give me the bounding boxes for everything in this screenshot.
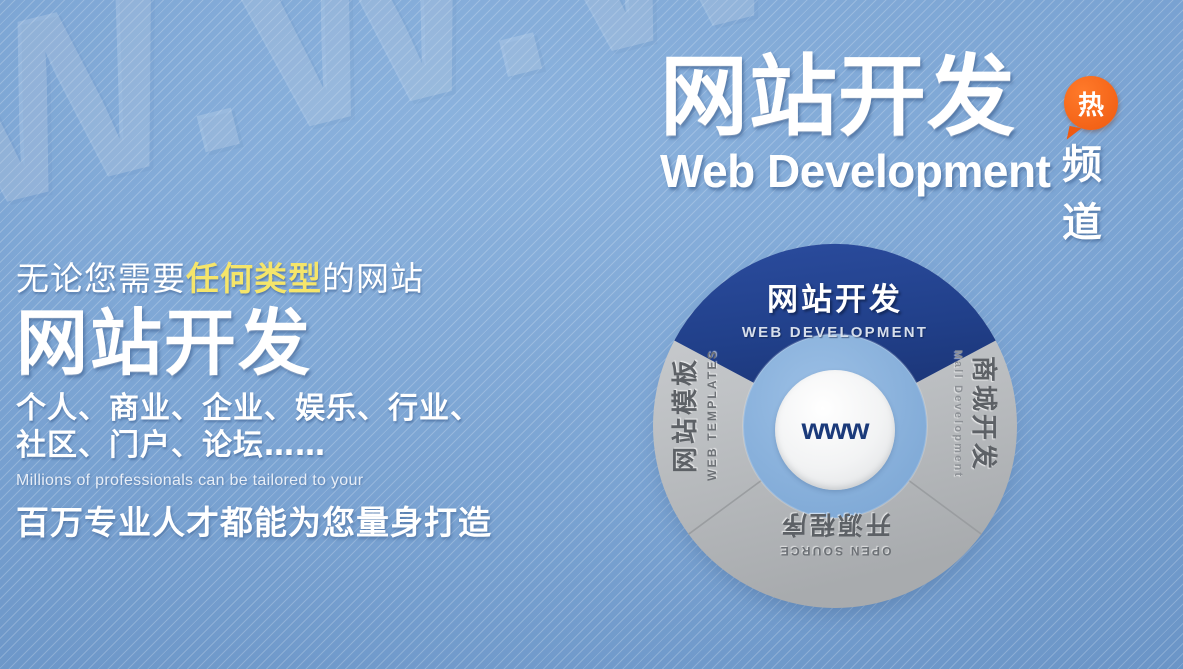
header-chinese-title: 网站开发 bbox=[660, 52, 1130, 142]
tagline: 百万专业人才都能为您量身打造 bbox=[16, 496, 556, 544]
category-line-1: 个人、商业、企业、娱乐、行业、 bbox=[16, 390, 556, 428]
english-subtitle: Millions of professionals can be tailore… bbox=[16, 472, 556, 490]
header-title-block: 网站开发 Web Development 热 频道 bbox=[660, 52, 1130, 198]
hot-badge: 热 bbox=[1064, 76, 1118, 130]
hot-badge-label: 热 bbox=[1078, 85, 1104, 122]
header-english-title: Web Development bbox=[660, 144, 1130, 198]
center-www-hub[interactable]: www bbox=[775, 370, 895, 490]
lead-sentence: 无论您需要任何类型的网站 bbox=[16, 252, 556, 300]
lead-highlight-text: 任何类型 bbox=[186, 259, 322, 298]
category-list: 个人、商业、企业、娱乐、行业、 社区、门户、论坛…… bbox=[16, 390, 556, 465]
service-donut-diagram: 网站开发 WEB DEVELOPMENT 网站模板 WEB TEMPLATES … bbox=[645, 240, 1025, 620]
channel-label: 频道 bbox=[1062, 132, 1130, 248]
lead-before-text: 无论您需要 bbox=[16, 259, 186, 298]
main-heading: 网站开发 bbox=[16, 306, 556, 382]
promo-banner: W.W.W 网站开发 Web Development 热 频道 无论您需要任何类… bbox=[0, 0, 1183, 669]
lead-after-text: 的网站 bbox=[322, 259, 424, 298]
center-www-label: www bbox=[801, 413, 868, 447]
marketing-copy-block: 无论您需要任何类型的网站 网站开发 个人、商业、企业、娱乐、行业、 社区、门户、… bbox=[16, 252, 556, 544]
category-line-2: 社区、门户、论坛…… bbox=[16, 427, 556, 465]
